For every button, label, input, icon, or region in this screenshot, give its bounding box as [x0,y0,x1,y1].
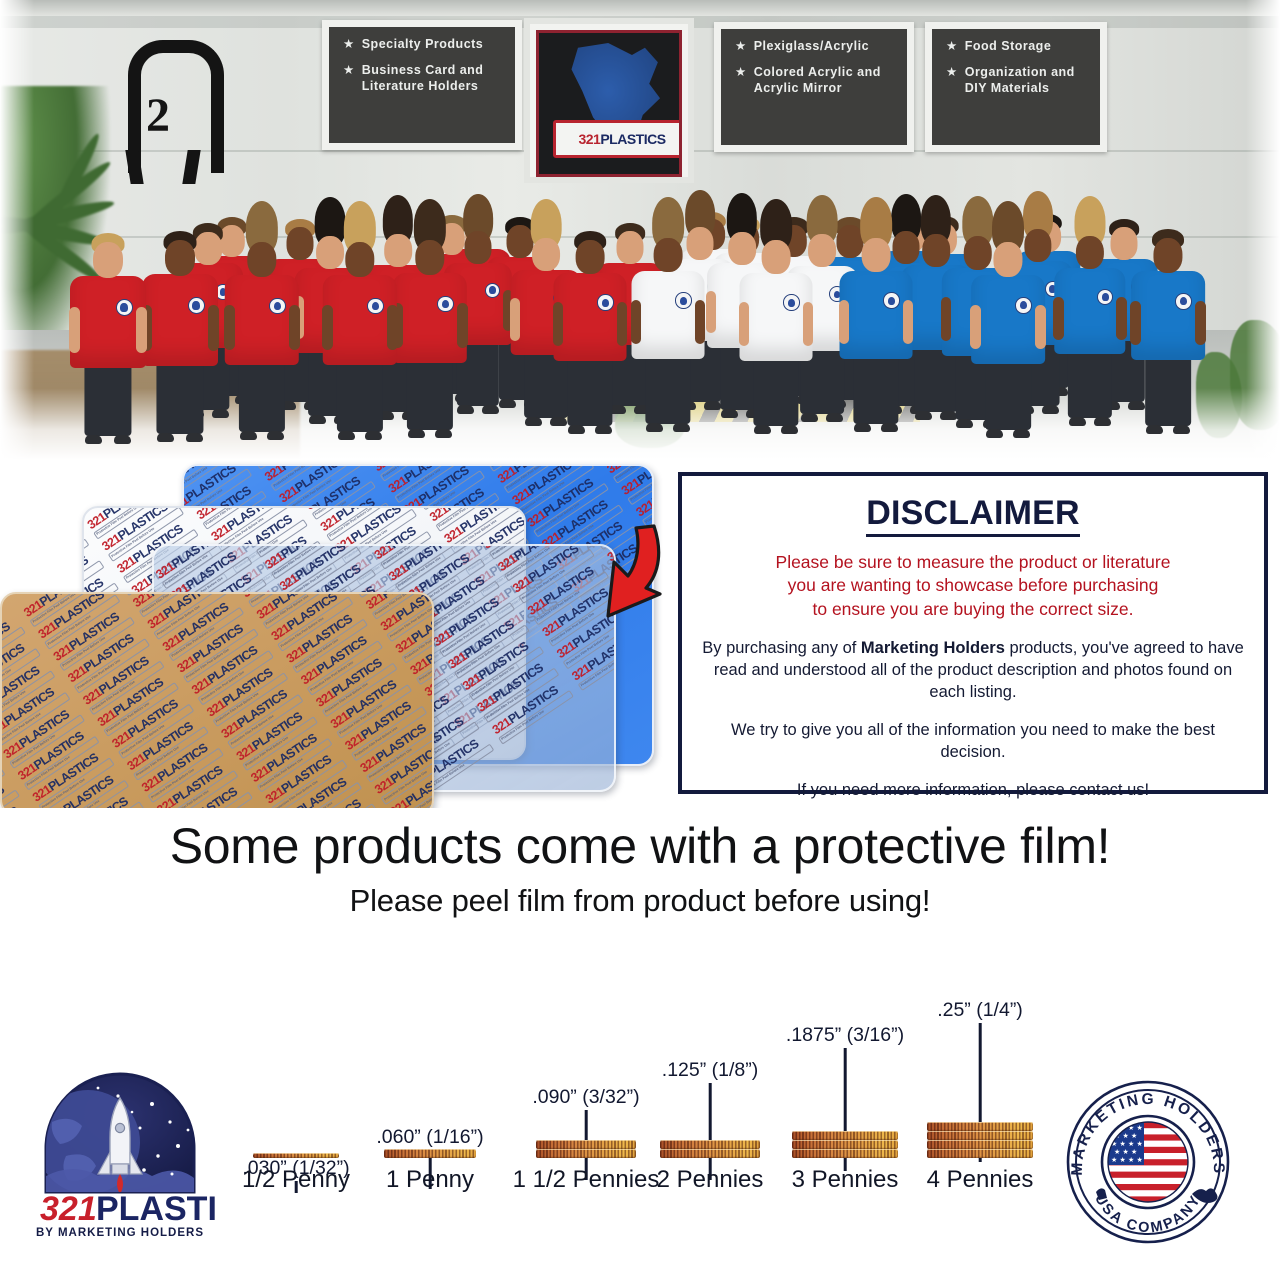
svg-text:★ ★ ★ ★: ★ ★ ★ ★ [1111,1140,1143,1148]
sign-line: Specialty Products [362,37,484,52]
employee-head [1153,238,1182,273]
sign-line: Food Storage [965,39,1052,54]
employee-shirt [554,273,627,361]
film-watermark: 321PLASTICSProtective Film Peel Before U… [16,724,100,791]
sign-plexiglass: ★ Plexiglass/Acrylic ★ Colored Acrylic a… [714,22,914,152]
door-logo-plastics: PLASTICS [600,131,665,147]
film-watermark: 321PLASTICSProtective Film Peel Before U… [490,679,574,746]
employee-shirt [323,275,397,365]
film-watermark: 321PLASTICSProtective Film Peel Before U… [284,607,368,674]
logo-321-red: 321 [40,1190,97,1228]
sign-line: Organization and DIY Materials [965,65,1086,96]
penny-stack [792,1131,898,1158]
star-icon: ★ [735,39,747,54]
sign-line: Colored Acrylic and Acrylic Mirror [754,65,893,96]
film-watermark: 321PLASTICSProtective Film Peel Before U… [318,506,402,542]
employee [225,234,299,432]
film-watermark: 321PLASTICSProtective Film Peel Before U… [169,780,253,808]
thickness-column: .030” (1/32”)1/2 Penny [240,974,352,1192]
shirt-logo [1015,297,1032,314]
photo-right-fade [1246,0,1280,460]
film-watermark: 321PLASTICSProtective Film Peel Before U… [570,625,616,692]
employee-shirt [840,271,913,359]
film-watermark: 321PLASTICSProtective Film Peel Before U… [481,544,565,560]
employee-legs [853,353,898,424]
film-watermark: 321PLASTICSProtective Film Peel Before U… [155,758,239,808]
thickness-measurement: .060” (1/16”) [376,1126,483,1149]
film-watermark: 321PLASTICSProtective Film Peel Before U… [349,592,433,598]
film-watermark: 321PLASTICSProtective Film Peel Before U… [154,544,238,590]
film-watermark: 321PLASTICSProtective Film Peel Before U… [51,605,135,672]
penny-stack [927,1122,1033,1158]
film-watermark: 321PLASTICSProtective Film Peel Before U… [0,778,20,808]
logo-marketing-holders-seal: ★ ★ ★ ★★ ★ ★ ★ ★ ★ ★★ ★ ★ ★ ★ ★ ★ MARKET… [1062,1078,1234,1246]
film-watermark: 321PLASTICSProtective Film Peel Before U… [195,506,279,530]
film-watermark: 321PLASTICSProtective Film Peel Before U… [372,464,456,482]
film-watermark: 321PLASTICSProtective Film Peel Before U… [66,627,150,694]
film-watermark: 321PLASTICSProtective Film Peel Before U… [1,702,85,769]
penny-stack [536,1140,636,1158]
film-watermark: 321PLASTICSProtective Film Peel Before U… [475,657,559,724]
employee-legs [239,359,285,432]
thickness-column: .060” (1/16”)1 Penny [374,974,486,1192]
photo-left-fade [0,0,34,460]
employee-legs [645,353,690,424]
thickness-label: 3 Pennies [792,1166,899,1194]
employee [393,232,467,430]
film-watermark: 321PLASTICSProtective Film Peel Before U… [408,619,434,686]
film-watermark: 321PLASTICSProtective Film Peel Before U… [116,592,200,596]
penny-stack [384,1149,476,1158]
film-watermark: 321PLASTICSProtective Film Peel Before U… [372,544,456,570]
film-watermark: 321PLASTICSProtective Film Peel Before U… [263,544,347,580]
film-watermark: 321PLASTICSProtective Film Peel Before U… [0,615,26,682]
film-watermark: 321PLASTICSProtective Film Peel Before U… [96,670,180,737]
film-watermark: 321PLASTICSProtective Film Peel Before U… [481,464,565,472]
film-watermark: 321PLASTICSProtective Film Peel Before U… [180,506,264,508]
film-watermark: 321PLASTICSProtective Film Peel Before U… [446,613,530,680]
headline-block: Some products come with a protective fil… [0,820,1280,919]
roofline [0,0,1280,16]
employee-shirt [393,273,467,363]
wall-art-rocket-a: 2 [128,40,198,170]
film-watermark: 321PLASTICSProtective Film Peel Before U… [240,592,324,608]
employee-legs [84,362,131,436]
employee-head [415,240,444,275]
film-watermark: 321PLASTICSProtective Film Peel Before U… [386,464,470,503]
sign-food-storage: ★ Food Storage ★ Organization and DIY Ma… [925,22,1107,152]
door-map-poster: 321PLASTICS [536,30,682,177]
film-watermark: 321PLASTICSProtective Film Peel Before U… [364,592,434,620]
film-watermark: 321PLASTICSProtective Film Peel Before U… [605,464,654,484]
film-watermark: 321PLASTICSProtective Film Peel Before U… [175,617,259,684]
employee [1131,230,1205,426]
disclaimer-title: DISCLAIMER [866,494,1080,537]
svg-text:★ ★ ★ ★: ★ ★ ★ ★ [1111,1156,1143,1164]
penny-coin [927,1149,1033,1158]
employee-head [576,240,605,275]
red-arrow-icon [558,520,670,628]
employee [1054,228,1125,418]
headline-primary: Some products come with a protective fil… [0,820,1280,873]
employee-shirt [632,271,705,359]
employee-head [762,240,791,275]
film-watermark: 321PLASTICSProtective Film Peel Before U… [428,506,512,532]
shirt-logo [675,292,691,308]
shirt-logo [597,294,613,310]
shirt-logo [1175,293,1192,310]
thickness-measurement: .1875” (3/16”) [786,1024,904,1047]
sign-line: Business Card and Literature Holders [362,63,501,94]
employee-head [93,242,123,278]
film-watermark-pattern: 321PLASTICSProtective Film Peel Before U… [0,592,434,808]
shirt-logo [783,294,799,310]
film-watermark: 321PLASTICSProtective Film Peel Before U… [36,592,120,650]
film-watermark: 321PLASTICSProtective Film Peel Before U… [125,714,209,781]
film-watermark: 321PLASTICSProtective Film Peel Before U… [184,802,268,808]
employee-shirt [70,276,146,368]
kraft-paper-film-sheet: 321PLASTICSProtective Film Peel Before U… [0,592,434,808]
employee [142,232,218,434]
employee-shirt [225,275,299,365]
film-watermark: 321PLASTICSProtective Film Peel Before U… [279,770,363,808]
employee-legs [1145,354,1191,426]
film-watermark: 321PLASTICSProtective Film Peel Before U… [431,591,515,658]
employee-shirt [1054,268,1125,354]
film-watermark: 321PLASTICSProtective Film Peel Before U… [140,736,224,803]
thickness-column: .1875” (3/16”)3 Pennies [789,974,901,1192]
star-icon: ★ [735,65,747,80]
disclaimer-red-line: you are wanting to showcase before purch… [788,575,1159,595]
penny-stack [253,1153,339,1158]
employee-head [1076,236,1104,270]
thickness-measurement: .25” (1/4”) [937,999,1023,1022]
logo-321-plastics: 321 PLASTICS BY MARKETING HOLDERS [22,1070,218,1246]
penny-stack [660,1140,760,1158]
employee-shirt [1131,271,1205,360]
door-321plastics-logo: 321PLASTICS [553,120,682,158]
disclaimer-paragraph-4: If you need more information, please con… [702,779,1244,801]
film-watermark: 321PLASTICSProtective Film Peel Before U… [249,726,333,793]
sign-line: Plexiglass/Acrylic [754,39,869,54]
film-watermark: 321PLASTICSProtective Film Peel Before U… [314,651,398,718]
employee-head [247,242,276,277]
film-watermark: 321PLASTICSProtective Film Peel Before U… [0,637,41,704]
para2-pre: By purchasing any of [702,639,861,657]
thickness-column: .090” (3/32”)1 1/2 Pennies [530,974,642,1192]
film-watermark: 321PLASTICSProtective Film Peel Before U… [190,639,274,706]
employee-legs [337,359,383,432]
star-icon: ★ [343,63,355,78]
sign-specialty-products: ★ Specialty Products ★ Business Card and… [322,20,522,150]
film-watermark: 321PLASTICSProtective Film Peel Before U… [264,748,348,808]
film-watermark: 321PLASTICSProtective Film Peel Before U… [270,592,354,652]
employee-head [862,238,891,273]
brand-name: Marketing Holders [861,639,1005,657]
film-watermark: 321PLASTICSProtective Film Peel Before U… [634,464,654,527]
employee [554,232,627,426]
disclaimer-paragraph-2: By purchasing any of Marketing Holders p… [702,637,1244,703]
film-watermark: 321PLASTICSProtective Film Peel Before U… [379,592,434,642]
film-watermark: 321PLASTICSProtective Film Peel Before U… [293,792,377,808]
film-watermark: 321PLASTICSProtective Film Peel Before U… [160,595,244,662]
shirt-logo [188,297,205,314]
film-watermark: 321PLASTICSProtective Film Peel Before U… [329,673,413,740]
penny-coin [536,1140,636,1149]
thickness-label: 4 Pennies [927,1166,1034,1194]
film-watermark: 321PLASTICSProtective Film Peel Before U… [495,464,579,494]
thickness-measurement: .125” (1/8”) [662,1059,758,1082]
employee-head [654,238,683,273]
film-watermark: 321PLASTICSProtective Film Peel Before U… [461,635,545,702]
thickness-label: 1 1/2 Pennies [513,1166,660,1194]
door-logo-321: 321 [578,131,600,147]
employee-shirt [142,274,218,366]
employee-legs [567,355,612,426]
film-watermark: 321PLASTICSProtective Film Peel Before U… [131,592,215,618]
employee [971,234,1045,430]
thickness-label: 1 Penny [386,1166,474,1194]
film-watermark: 321PLASTICSProtective Film Peel Before U… [248,544,332,558]
wall-art-label: 2 [146,88,170,143]
team-group-photo: 2 ★ Specialty Products ★ Business Card a… [0,0,1280,460]
film-watermark: 321PLASTICSProtective Film Peel Before U… [0,756,5,808]
employee-head [993,242,1022,277]
film-watermark: 321PLASTICSProtective Film Peel Before U… [510,464,594,515]
penny-coin [792,1149,898,1158]
logo-plastics-dark: PLASTICS [96,1190,218,1228]
film-watermark: 321PLASTICSProtective Film Peel Before U… [219,682,303,749]
employee-head [345,242,374,277]
film-watermark: 321PLASTICSProtective Film Peel Before U… [413,506,497,510]
employee [70,234,146,436]
film-watermark: 321PLASTICSProtective Film Peel Before U… [46,768,130,808]
penny-coin [792,1131,898,1140]
employee-legs [985,358,1031,430]
thickness-label: 2 Pennies [657,1166,764,1194]
thickness-column: .125” (1/8”)2 Pennies [654,974,766,1192]
film-watermark: 321PLASTICSProtective Film Peel Before U… [205,661,289,728]
penny-coin [253,1153,339,1158]
film-watermark: 321PLASTICSProtective Film Peel Before U… [31,746,115,808]
thickness-column: .25” (1/4”)4 Pennies [924,974,1036,1192]
thickness-measurement: .090” (3/32”) [532,1086,639,1109]
film-watermark: 321PLASTICSProtective Film Peel Before U… [343,694,427,761]
star-icon: ★ [343,37,355,52]
penny-coin [927,1131,1033,1140]
logo-tagline: BY MARKETING HOLDERS [36,1227,204,1239]
film-watermark: 321PLASTICSProtective Film Peel Before U… [248,464,332,470]
film-watermark: 321PLASTICSProtective Film Peel Before U… [387,544,471,592]
film-watermark: 321PLASTICSProtective Film Peel Before U… [0,800,35,808]
film-watermark: 321PLASTICSProtective Film Peel Before U… [255,592,339,630]
disclaimer-red-line: to ensure you are buying the correct siz… [812,599,1133,619]
employee [740,232,813,426]
film-watermark: 321PLASTICSProtective Film Peel Before U… [22,592,106,628]
shirt-logo [883,292,899,308]
storefront-door: 321PLASTICS [524,18,694,183]
film-watermark: 321PLASTICSProtective Film Peel Before U… [262,464,346,491]
employee-head [165,240,195,276]
film-watermark: 321PLASTICSProtective Film Peel Before U… [110,692,194,759]
disclaimer-red-line: Please be sure to measure the product or… [776,552,1171,572]
penny-coin [660,1149,760,1158]
film-watermark: 321PLASTICSProtective Film Peel Before U… [388,760,434,808]
thickness-label: 1/2 Penny [242,1166,350,1194]
employee [632,230,705,424]
film-watermark: 321PLASTICSProtective Film Peel Before U… [82,527,90,594]
film-watermark: 321PLASTICSProtective Film Peel Before U… [299,629,383,696]
shirt-logo [116,299,133,316]
employee [840,230,913,424]
penny-coin [792,1140,898,1149]
svg-text:★ ★ ★: ★ ★ ★ [1114,1148,1137,1156]
film-watermark: 321PLASTICSProtective Film Peel Before U… [0,680,70,747]
employee-legs [1068,348,1112,418]
headline-secondary: Please peel film from product before usi… [0,883,1280,919]
star-icon: ★ [946,65,958,80]
film-watermark: 321PLASTICSProtective Film Peel Before U… [60,790,144,808]
disclaimer-box: DISCLAIMER Please be sure to measure the… [678,472,1268,794]
disclaimer-red-text: Please be sure to measure the product or… [702,551,1244,621]
penny-coin [927,1140,1033,1149]
penny-coin [660,1140,760,1149]
employee [323,234,397,432]
employee-legs [753,355,798,426]
film-watermark: 321PLASTICSProtective Film Peel Before U… [373,738,434,805]
film-watermark: 321PLASTICSProtective Film Peel Before U… [304,506,388,520]
film-watermark: 321PLASTICSProtective Film Peel Before U… [182,464,237,501]
film-watermark: 321PLASTICSProtective Film Peel Before U… [81,649,165,716]
film-watermark: 321PLASTICSProtective Film Peel Before U… [85,506,169,540]
employee-legs [407,357,453,430]
star-icon: ★ [946,39,958,54]
film-watermark: 321PLASTICSProtective Film Peel Before U… [358,716,434,783]
disclaimer-paragraph-3: We try to give you all of the informatio… [702,719,1244,763]
film-watermark: 321PLASTICSProtective Film Peel Before U… [146,592,230,640]
film-watermark: 321PLASTICSProtective Film Peel Before U… [619,464,654,506]
penny-coin [536,1149,636,1158]
film-watermark: 321PLASTICSProtective Film Peel Before U… [0,658,56,725]
film-watermark: 321PLASTICSProtective Film Peel Before U… [234,704,318,771]
employee-shirt [971,275,1045,364]
film-watermark: 321PLASTICSProtective Film Peel Before U… [357,544,441,548]
film-watermark: 321PLASTICSProtective Film Peel Before U… [393,597,434,664]
penny-coin [384,1149,476,1158]
film-watermark: 321PLASTICSProtective Film Peel Before U… [423,641,434,708]
employee-head [464,231,491,263]
penny-coin [927,1122,1033,1131]
employee-shirt [740,273,813,361]
acrylic-sheets-with-film: 321PLASTICSProtective Film Peel Before U… [0,458,676,808]
employee-legs [156,360,203,434]
